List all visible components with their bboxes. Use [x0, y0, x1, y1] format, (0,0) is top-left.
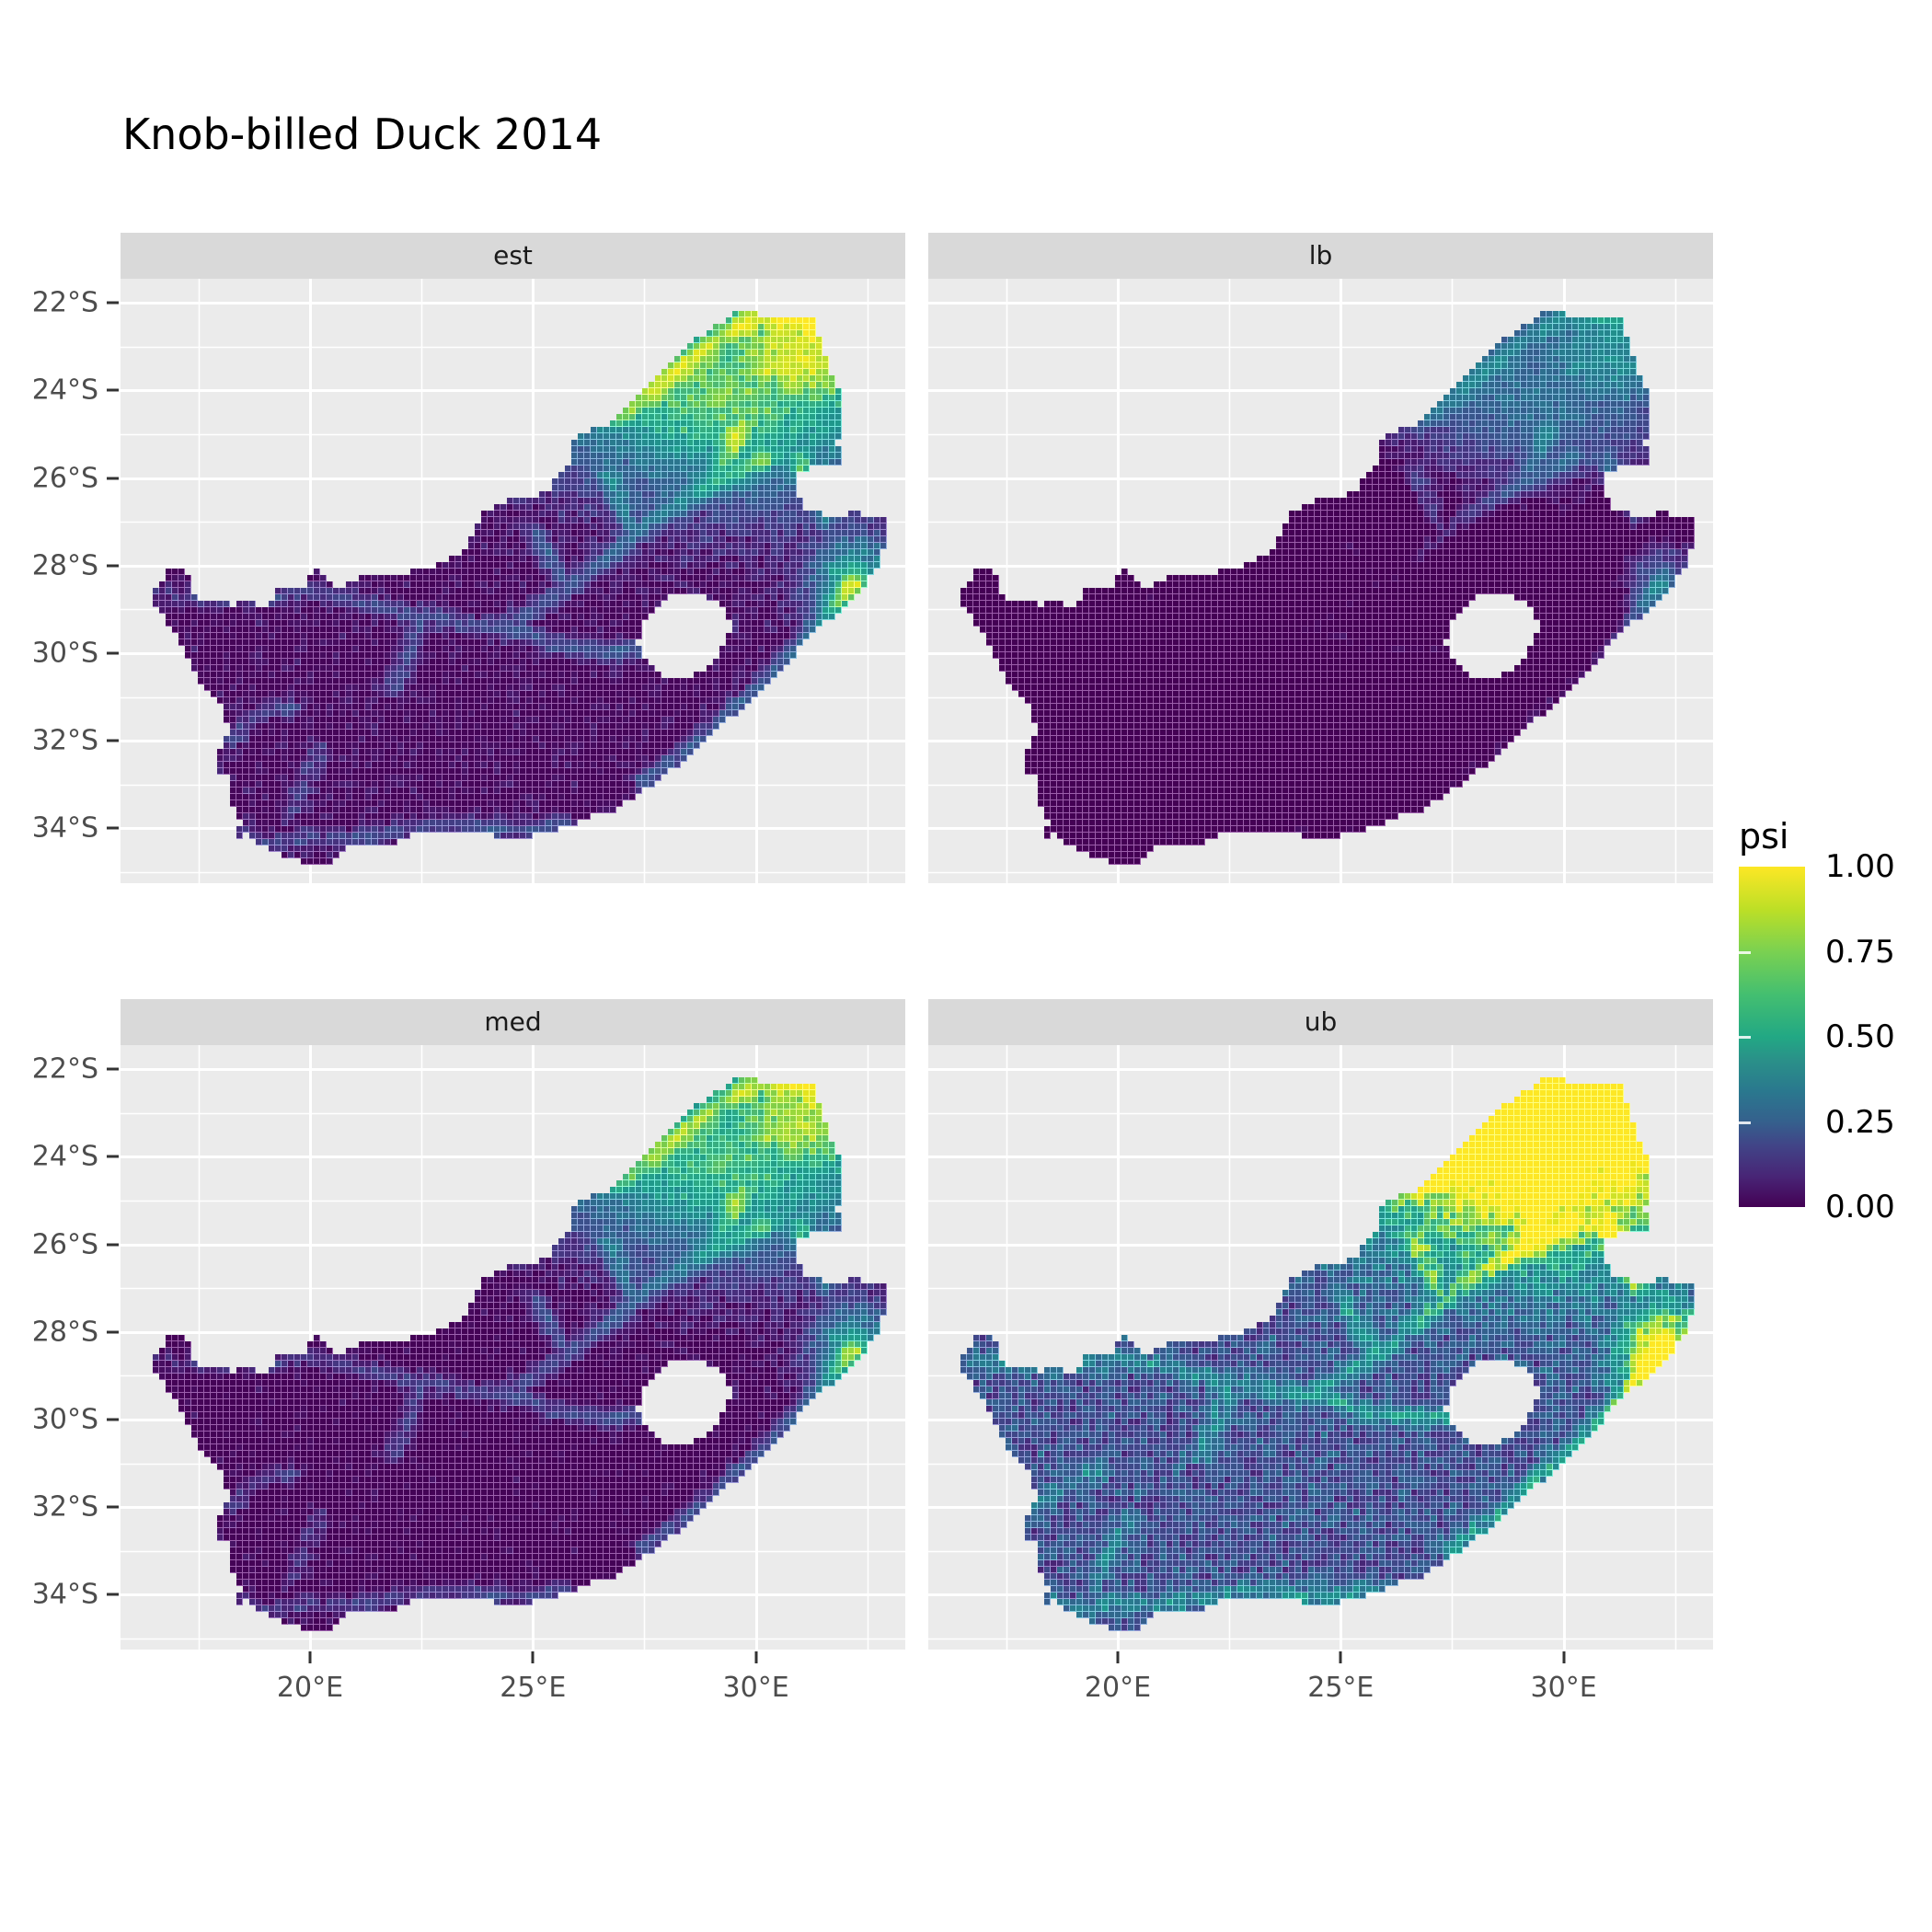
- y-tick-label: 32°S: [32, 1491, 98, 1524]
- y-tick-label: 28°S: [32, 1316, 98, 1348]
- legend-tick-label: 0.00: [1825, 1189, 1895, 1225]
- y-tick-label: 26°S: [32, 462, 98, 494]
- y-tick-label: 24°S: [32, 374, 98, 407]
- x-tick-label: 30°E: [1531, 1672, 1597, 1704]
- panel-lb[interactable]: [928, 279, 1713, 883]
- panel-med[interactable]: [121, 1045, 905, 1650]
- facet-strip-label: med: [484, 1009, 541, 1035]
- y-tick-label: 22°S: [32, 287, 98, 319]
- facet-strip-ub: ub: [928, 999, 1713, 1045]
- panel-est[interactable]: [121, 279, 905, 883]
- y-tick-label: 30°S: [32, 1404, 98, 1436]
- page-title: Knob-billed Duck 2014: [122, 109, 602, 160]
- raster-med: [121, 1045, 905, 1650]
- x-tick-label: 30°E: [723, 1672, 789, 1704]
- y-tick-mark: [107, 740, 119, 742]
- y-tick-mark: [107, 1419, 119, 1421]
- legend-tick-mark: [1739, 951, 1751, 954]
- y-tick-label: 28°S: [32, 549, 98, 581]
- y-tick-mark: [107, 827, 119, 830]
- y-tick-mark: [107, 564, 119, 567]
- legend-tick-mark: [1911, 1036, 1923, 1039]
- legend-tick-label: 0.75: [1825, 934, 1895, 971]
- y-tick-mark: [107, 1243, 119, 1246]
- x-tick-mark: [1340, 1651, 1342, 1663]
- y-tick-mark: [107, 1593, 119, 1596]
- panel-ub[interactable]: [928, 1045, 1713, 1650]
- y-tick-label: 26°S: [32, 1228, 98, 1260]
- y-tick-label: 32°S: [32, 725, 98, 757]
- x-tick-mark: [308, 1651, 311, 1663]
- x-tick-label: 25°E: [1307, 1672, 1374, 1704]
- x-tick-label: 20°E: [277, 1672, 343, 1704]
- x-tick-mark: [1562, 1651, 1565, 1663]
- x-tick-label: 20°E: [1085, 1672, 1151, 1704]
- raster-lb: [928, 279, 1713, 883]
- x-tick-mark: [532, 1651, 535, 1663]
- y-tick-label: 30°S: [32, 638, 98, 670]
- y-tick-mark: [107, 302, 119, 305]
- legend-tick-label: 0.25: [1825, 1104, 1895, 1141]
- raster-est: [121, 279, 905, 883]
- y-tick-mark: [107, 1068, 119, 1071]
- legend-tick-label: 1.00: [1825, 848, 1895, 885]
- facet-strip-label: est: [493, 243, 533, 269]
- legend-tick-mark: [1911, 951, 1923, 954]
- y-tick-mark: [107, 652, 119, 655]
- legend: psi 1.000.750.500.250.00: [1739, 819, 1923, 1251]
- raster-ub: [928, 1045, 1713, 1650]
- facet-lb: lb: [928, 233, 1713, 883]
- facet-strip-label: lb: [1309, 243, 1333, 269]
- y-tick-mark: [107, 1156, 119, 1158]
- legend-tick-mark: [1739, 1036, 1751, 1039]
- y-tick-mark: [107, 389, 119, 392]
- x-tick-mark: [1116, 1651, 1119, 1663]
- x-tick-mark: [754, 1651, 757, 1663]
- y-tick-mark: [107, 477, 119, 479]
- x-tick-label: 25°E: [500, 1672, 566, 1704]
- y-tick-label: 34°S: [32, 1579, 98, 1611]
- legend-tick-label: 0.50: [1825, 1018, 1895, 1055]
- y-tick-label: 34°S: [32, 812, 98, 845]
- facet-strip-lb: lb: [928, 233, 1713, 279]
- facet-ub: ub: [928, 999, 1713, 1650]
- legend-title: psi: [1739, 819, 1788, 854]
- facet-strip-med: med: [121, 999, 905, 1045]
- y-tick-label: 22°S: [32, 1053, 98, 1086]
- facet-est: est: [121, 233, 905, 883]
- y-tick-mark: [107, 1506, 119, 1509]
- legend-tick-mark: [1911, 1121, 1923, 1124]
- facet-strip-label: ub: [1305, 1009, 1338, 1035]
- facet-med: med: [121, 999, 905, 1650]
- y-tick-label: 24°S: [32, 1141, 98, 1173]
- facet-strip-est: est: [121, 233, 905, 279]
- y-tick-mark: [107, 1330, 119, 1333]
- legend-tick-mark: [1739, 1121, 1751, 1124]
